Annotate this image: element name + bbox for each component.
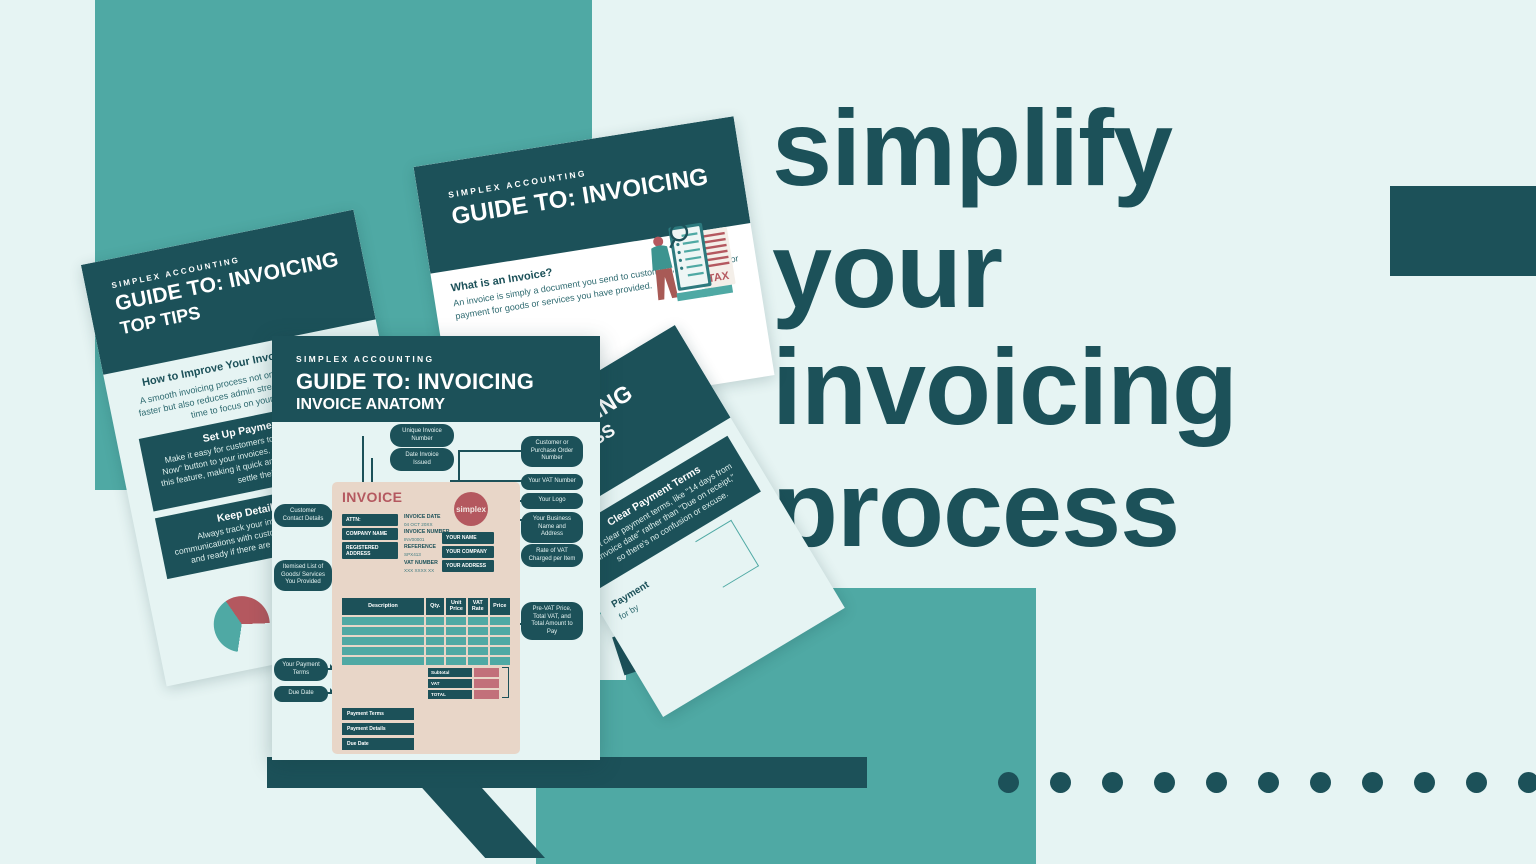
decor-dot <box>1310 772 1331 793</box>
totals-row: VAT <box>428 679 499 688</box>
anatomy-diagram: Unique Invoice Number Date Invoice Issue… <box>272 422 600 760</box>
meta-label: REFERENCE <box>404 543 450 551</box>
meta-value: XXX XXXX XX <box>404 567 450 574</box>
invoice-sheet-mock: INVOICE simplex ATTN: COMPANY NAME REGIS… <box>332 482 520 754</box>
meta-label: VAT NUMBER <box>404 559 450 567</box>
col-price: Price <box>490 598 510 615</box>
meta-label: INVOICE NUMBER <box>404 528 450 536</box>
payment-field-due-date: Due Date <box>342 738 414 750</box>
totals-label: Subtotal <box>428 668 472 677</box>
connector <box>458 450 521 452</box>
invoice-field-attn: ATTN: <box>342 514 398 526</box>
card-invoice-anatomy-header: SIMPLEX ACCOUNTING GUIDE TO: INVOICING I… <box>272 336 600 422</box>
totals-label: VAT <box>428 679 472 688</box>
table-row <box>342 617 510 625</box>
table-row <box>342 627 510 635</box>
decor-dot <box>1102 772 1123 793</box>
table-row <box>342 657 510 665</box>
person-checklist-illustration: TAX <box>639 206 756 313</box>
totals-row: TOTAL <box>428 690 499 699</box>
headline-line-3: invoicing <box>772 335 1512 439</box>
decor-dot-row <box>998 772 1536 793</box>
headline-line-1: simplify <box>772 96 1512 200</box>
decor-dot <box>1466 772 1487 793</box>
invoice-totals: Subtotal VAT TOTAL <box>428 668 499 701</box>
invoice-field-your-company: YOUR COMPANY <box>442 546 494 558</box>
table-header-row: Description Qty. Unit Price VAT Rate Pri… <box>342 598 510 615</box>
card-invoice-anatomy-eyebrow: SIMPLEX ACCOUNTING <box>296 354 600 364</box>
meta-label: INVOICE DATE <box>404 513 450 521</box>
decor-dot <box>1518 772 1536 793</box>
decor-dot <box>1414 772 1435 793</box>
meta-value: SPX413 <box>404 551 450 558</box>
invoice-field-registered-address: REGISTERED ADDRESS <box>342 542 398 559</box>
slide-canvas: simplify your invoicing process SIMPLEX … <box>0 0 1536 864</box>
callout-your-logo: Your Logo <box>521 493 583 509</box>
meta-value: 04 OCT 20XX <box>404 521 450 528</box>
invoice-payment-fields: Payment Terms Payment Details Due Date <box>342 708 414 753</box>
pie-chart-icon <box>209 591 275 657</box>
card-invoice-anatomy-subtitle: INVOICE ANATOMY <box>296 396 600 414</box>
card-invoice-anatomy-title: GUIDE TO: INVOICING <box>296 369 600 395</box>
callout-your-vat-number: Your VAT Number <box>521 474 583 490</box>
headline-line-4: process <box>772 457 1512 561</box>
totals-bracket-decor <box>502 667 509 698</box>
headline: simplify your invoicing process <box>772 96 1512 561</box>
card-invoice-anatomy[interactable]: SIMPLEX ACCOUNTING GUIDE TO: INVOICING I… <box>272 336 600 760</box>
process-bracket-decor <box>695 520 759 588</box>
table-row <box>342 647 510 655</box>
col-description: Description <box>342 598 424 615</box>
decor-dot <box>1154 772 1175 793</box>
decor-dot <box>1258 772 1279 793</box>
table-row <box>342 637 510 645</box>
callout-rate-of-vat: Rate of VAT Charged per Item <box>521 544 583 567</box>
decor-dot <box>1050 772 1071 793</box>
callout-payment-terms: Your Payment Terms <box>274 658 328 681</box>
decor-dot <box>998 772 1019 793</box>
decor-speech-bubble-tail <box>415 780 545 858</box>
callout-customer-po-number: Customer or Purchase Order Number <box>521 436 583 467</box>
callout-totals-note: Pre-VAT Price, Total VAT, and Total Amou… <box>521 602 583 640</box>
callout-date-invoice-issued: Date Invoice Issued <box>390 448 454 471</box>
meta-value: INV00001 <box>404 536 450 543</box>
invoice-meta-block: INVOICE DATE 04 OCT 20XX INVOICE NUMBER … <box>404 513 450 574</box>
totals-row: Subtotal <box>428 668 499 677</box>
callout-itemised-list: Itemised List of Goods/ Services You Pro… <box>274 560 332 591</box>
col-vat-rate: VAT Rate <box>468 598 488 615</box>
invoice-field-your-address: YOUR ADDRESS <box>442 560 494 572</box>
invoice-field-company-name: COMPANY NAME <box>342 528 398 540</box>
totals-value <box>474 679 499 688</box>
callout-unique-invoice-number: Unique Invoice Number <box>390 424 454 447</box>
invoice-title: INVOICE <box>342 489 402 505</box>
payment-field-details: Payment Details <box>342 723 414 735</box>
callout-due-date: Due Date <box>274 686 328 702</box>
totals-value <box>474 690 499 699</box>
callout-customer-contact: Customer Contact Details <box>274 504 332 527</box>
col-qty: Qty. <box>426 598 445 615</box>
headline-line-2: your <box>772 218 1512 322</box>
payment-field-terms: Payment Terms <box>342 708 414 720</box>
totals-label: TOTAL <box>428 690 472 699</box>
decor-speech-bubble-bar <box>267 757 867 788</box>
totals-value <box>474 668 499 677</box>
col-unit-price: Unit Price <box>446 598 466 615</box>
decor-dot <box>1206 772 1227 793</box>
company-logo: simplex <box>454 492 488 526</box>
callout-business-name-address: Your Business Name and Address <box>521 512 583 543</box>
invoice-line-items-table: Description Qty. Unit Price VAT Rate Pri… <box>342 598 510 665</box>
decor-dot <box>1362 772 1383 793</box>
